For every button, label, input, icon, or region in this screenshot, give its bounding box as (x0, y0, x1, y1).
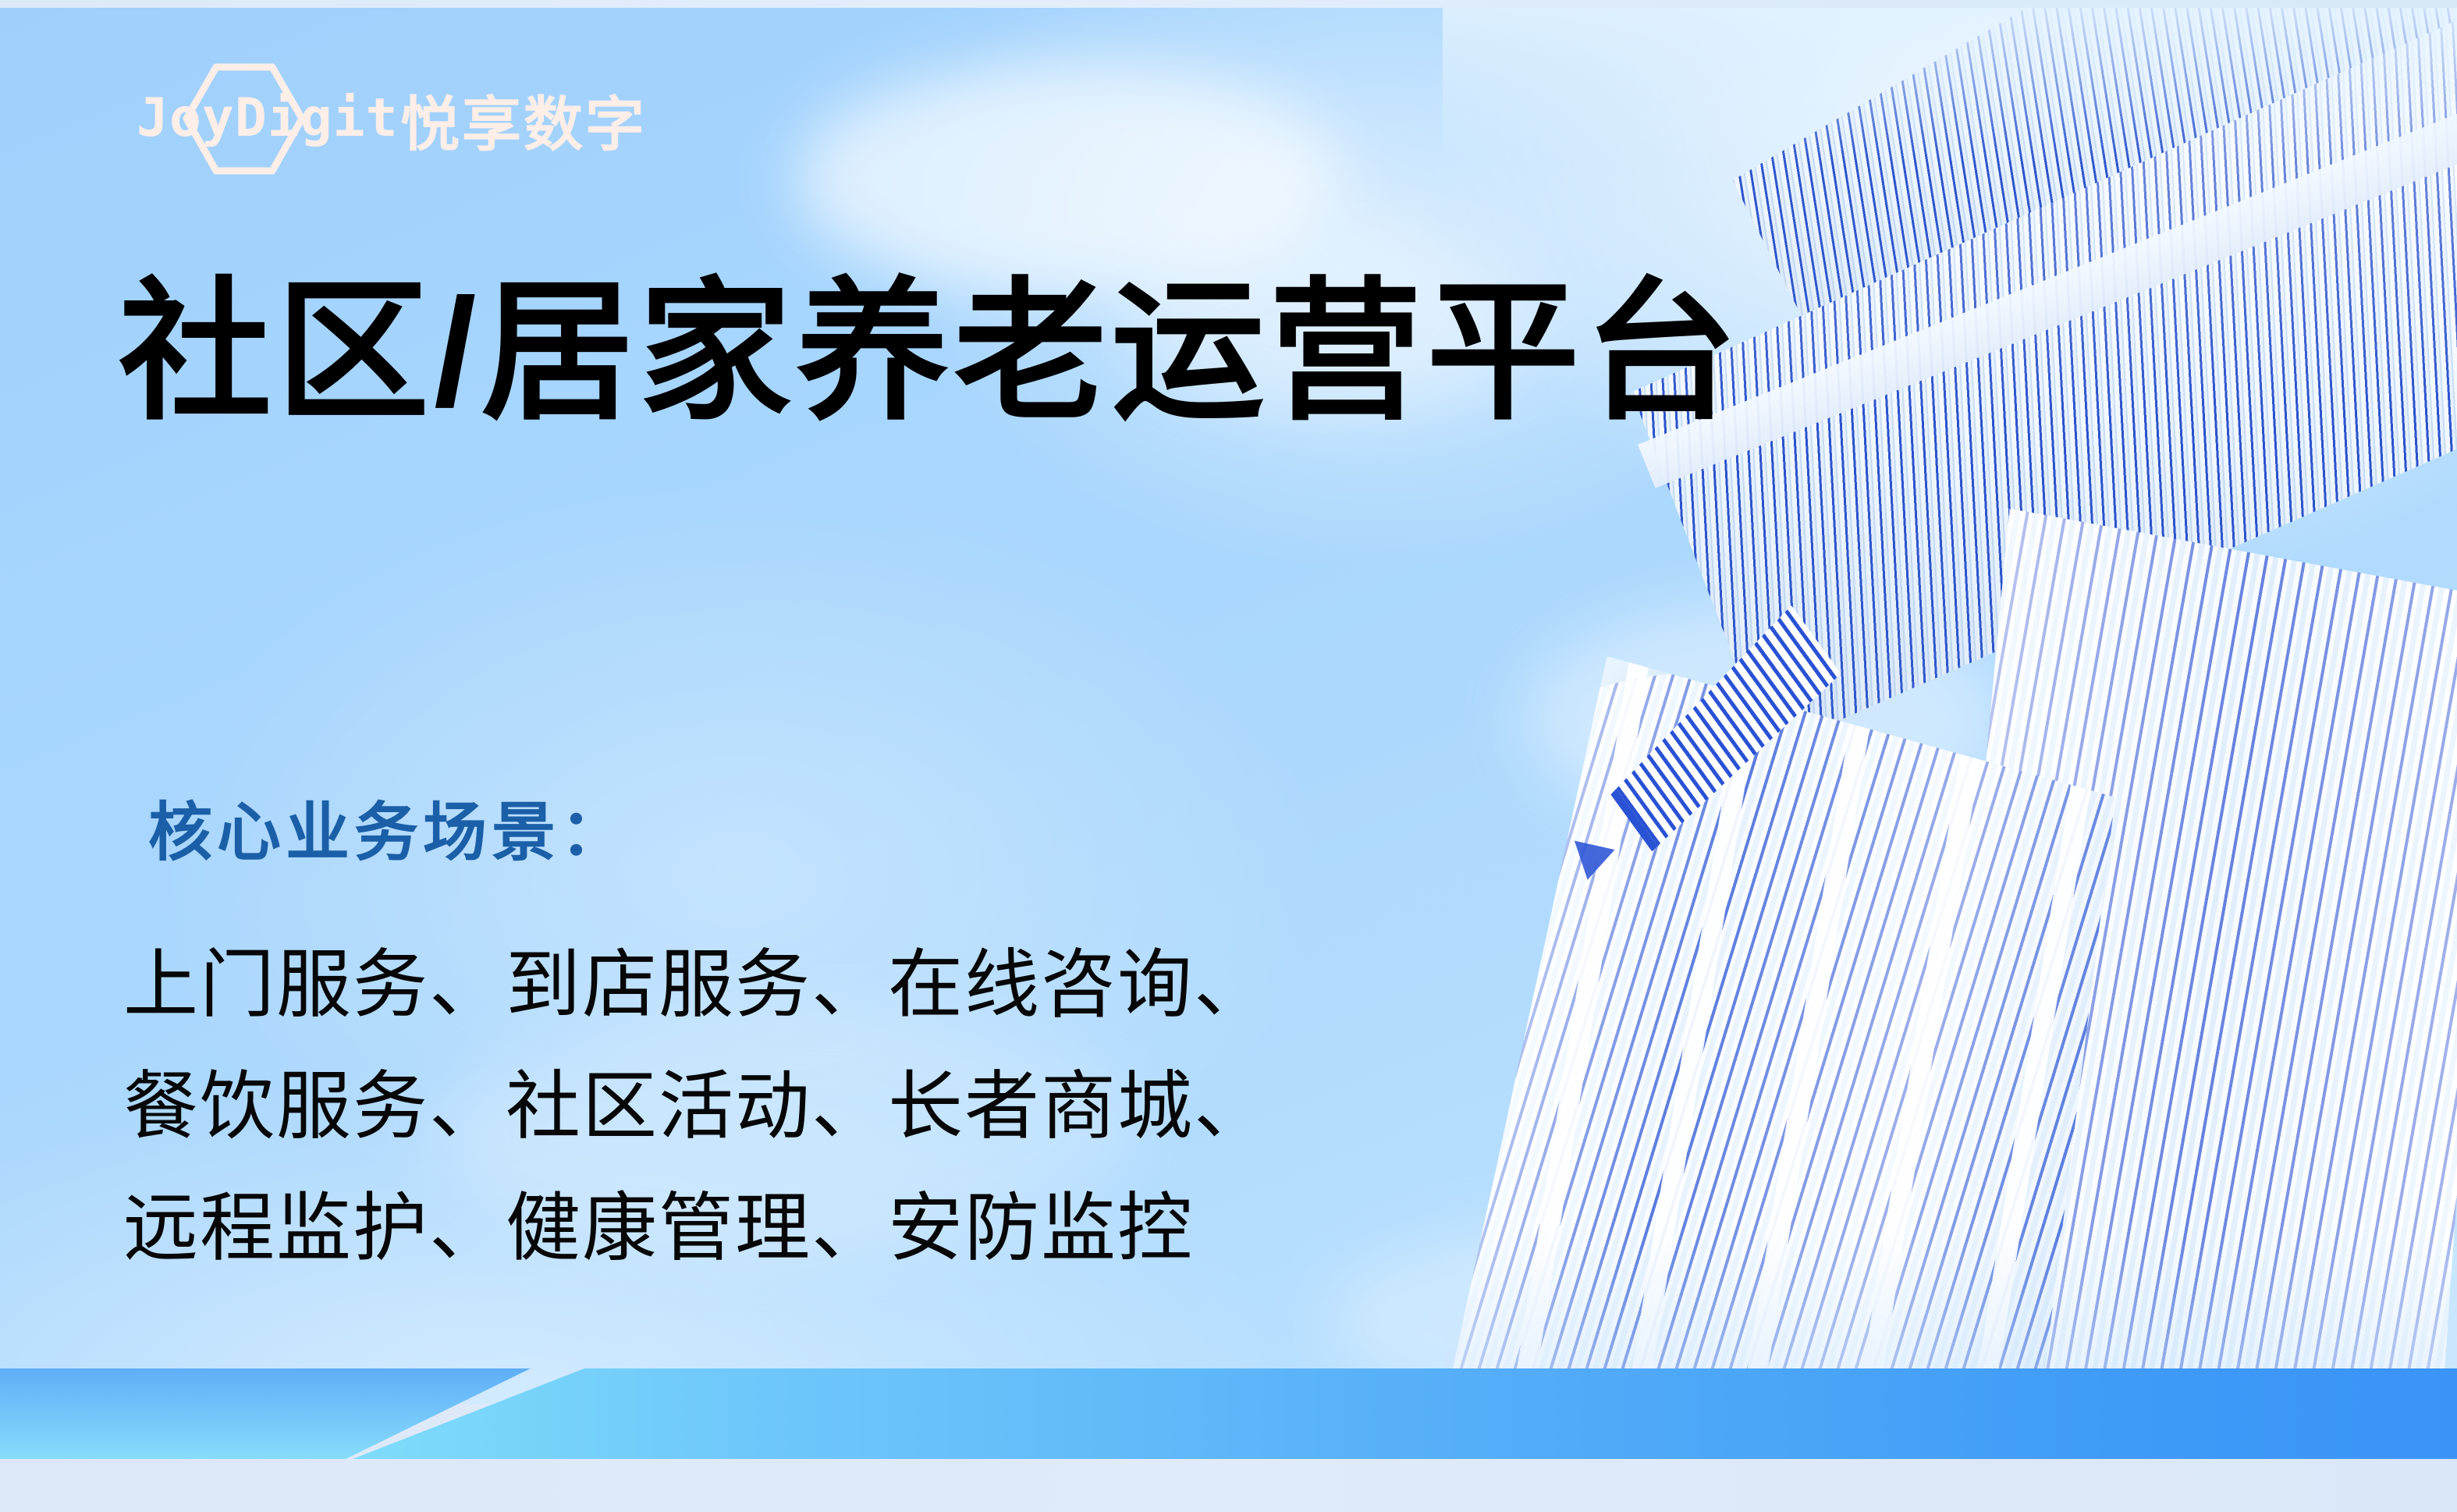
scenario-line: 远程监护、健康管理、安防监控 (123, 1168, 1270, 1290)
scenario-list: 上门服务、到店服务、在线咨询、 餐饮服务、社区活动、长者商城、 远程监护、健康管… (123, 925, 1270, 1290)
bottom-decorative-band (0, 1368, 2457, 1459)
page-title: 社区/居家养老运营平台 (119, 264, 1742, 441)
cloud-shape (1521, 601, 2005, 835)
logo-chinese-text: 悦享数字 (400, 76, 647, 162)
brand-logo: JoyDigit 悦享数字 (137, 62, 714, 176)
scenario-line: 餐饮服务、社区活动、长者商城、 (123, 1046, 1270, 1168)
cloud-shape (1857, 55, 2450, 382)
logo-mark: JoyDigit (137, 62, 394, 176)
section-heading: 核心业务场景： (148, 780, 629, 873)
logo-latin-text: JoyDigit (137, 87, 394, 150)
band-right-parallelogram (353, 1368, 2457, 1459)
slide-canvas: JoyDigit 悦享数字 社区/居家养老运营平台 核心业务场景： 上门服务、到… (0, 0, 2457, 1512)
top-edge-strip (0, 0, 2457, 8)
scenario-line: 上门服务、到店服务、在线咨询、 (123, 925, 1270, 1046)
